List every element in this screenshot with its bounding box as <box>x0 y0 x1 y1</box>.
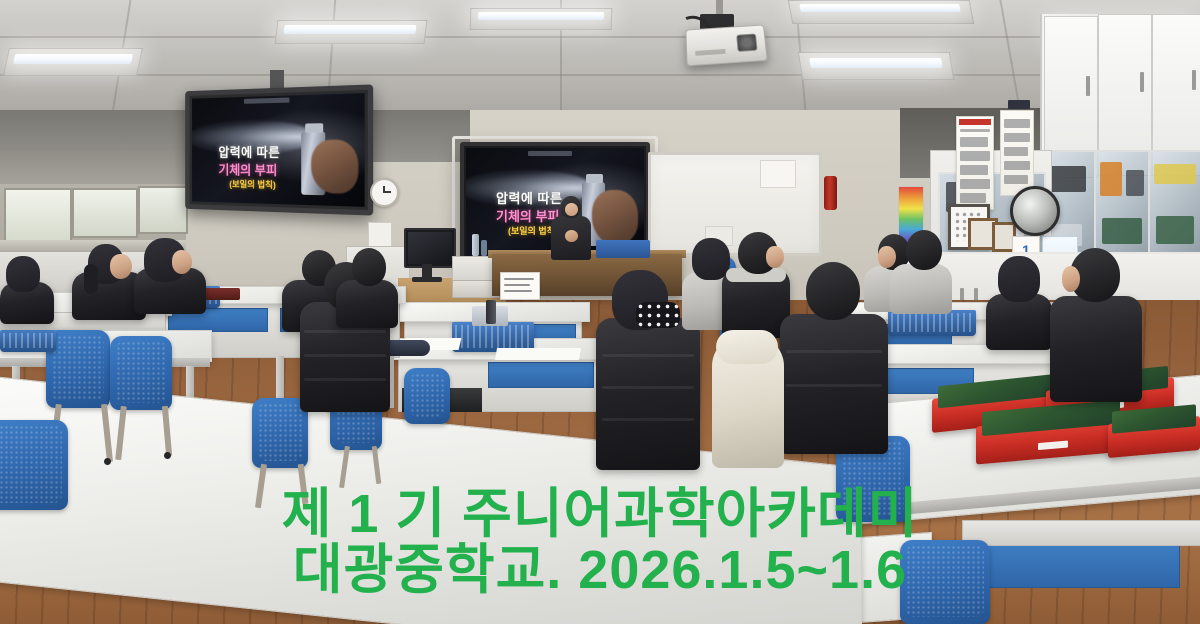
ceiling-light <box>283 25 416 34</box>
shelf-specimen <box>1100 162 1122 196</box>
instructor-hands <box>565 230 578 242</box>
slide-wall-tv: 압력에 따른 기체의 부피 (보일의 법칙) <box>192 93 365 207</box>
student <box>336 248 398 322</box>
lab-notice-sign <box>500 272 540 300</box>
caption-line-1: 제 1 기 주니어과학아카데미 <box>0 486 1200 542</box>
projector-vent <box>695 49 725 56</box>
chair-caster <box>104 458 111 465</box>
slide-text-part: 압력에 따른 <box>218 145 280 160</box>
monitor-base <box>412 277 442 282</box>
convex-safety-mirror <box>1010 186 1060 236</box>
ceiling-light <box>809 58 943 68</box>
ponytail <box>84 264 98 294</box>
shelf-specimen <box>1126 170 1144 196</box>
science-poster <box>1000 110 1034 196</box>
poster-header-tag <box>1008 100 1030 109</box>
reagent-bottle <box>481 240 487 256</box>
slide-text-part: 기체의 부피 <box>218 160 277 179</box>
cabinet-handle[interactable] <box>1086 76 1090 96</box>
projector <box>685 25 767 67</box>
window-pane <box>72 188 138 238</box>
worksheet-paper <box>495 348 581 360</box>
ceiling-light <box>799 4 961 12</box>
window-pane <box>138 186 188 234</box>
instructor-face <box>565 203 578 216</box>
shelf-specimen <box>1048 166 1086 192</box>
fire-extinguisher <box>824 176 837 210</box>
student <box>1050 248 1142 398</box>
classroom-photo: 압력에 따른 기체의 부피 (보일의 법칙) 압력에 따른 기체의 부피 <box>0 0 1200 624</box>
teacher-monitor <box>404 228 456 268</box>
bench-drawer-panel <box>488 362 594 388</box>
projector-lens <box>736 33 757 52</box>
ceiling-light <box>478 12 604 20</box>
equipment-basket <box>596 240 650 258</box>
cabinet-handle[interactable] <box>1192 70 1196 90</box>
wall-mounted-tv: 압력에 따른 기체의 부피 (보일의 법칙) <box>185 84 373 215</box>
reagent-bottle <box>472 234 479 256</box>
student <box>986 256 1052 346</box>
board-notice <box>760 160 796 188</box>
shelf-specimen <box>1156 216 1194 244</box>
cabinet-handle[interactable] <box>1140 72 1144 92</box>
caption-line-2: 대광중학교. 2026.1.5~1.6 <box>0 542 1200 598</box>
coat-hood <box>716 330 778 364</box>
ceiling-light <box>13 54 133 64</box>
chair-caster <box>164 452 171 459</box>
window-pane <box>4 188 72 242</box>
instructor <box>548 196 594 260</box>
monitor-stand <box>422 264 432 278</box>
student <box>0 256 54 320</box>
wall-clock <box>370 178 399 207</box>
caption-overlay: 제 1 기 주니어과학아카데미 대광중학교. 2026.1.5~1.6 <box>0 486 1200 598</box>
spray-can-on-bench <box>486 300 496 324</box>
chair[interactable] <box>404 368 450 424</box>
window-blind <box>0 150 186 184</box>
student <box>134 238 206 312</box>
chair[interactable] <box>110 336 172 410</box>
shelf-specimen <box>1154 164 1196 184</box>
equipment-basket <box>0 330 56 352</box>
wall-tv-screen: 압력에 따른 기체의 부피 (보일의 법칙) <box>192 93 365 207</box>
student <box>890 230 952 312</box>
science-poster <box>956 116 994 210</box>
slide-text-part: (보일의 법칙) <box>229 177 276 191</box>
shelf-specimen <box>1102 218 1142 244</box>
